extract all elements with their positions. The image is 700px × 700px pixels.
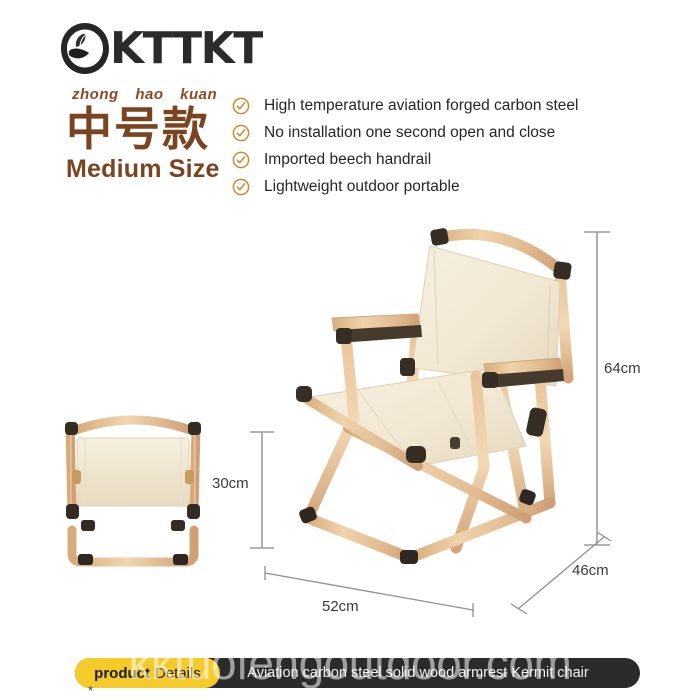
pinyin-3: kuan	[180, 86, 217, 103]
asterisk-mark: *	[88, 684, 93, 697]
feature-item: High temperature aviation forged carbon …	[232, 92, 682, 119]
dimension-label-folded-height: 30cm	[212, 475, 249, 492]
pinyin-2: hao	[135, 86, 163, 103]
feature-item: No installation one second open and clos…	[232, 119, 682, 146]
pinyin-1: zhong	[72, 86, 119, 103]
brand-name: KTTKT	[110, 27, 262, 71]
banner-caption: Aviation carbon steel solid wood armrest…	[220, 665, 640, 681]
feature-text: Imported beech handrail	[264, 151, 431, 169]
badge-label-details: Details	[155, 665, 201, 682]
dimension-label-width: 52cm	[322, 598, 359, 615]
feature-item: Imported beech handrail	[232, 146, 682, 173]
check-circle-icon	[232, 97, 250, 115]
feature-list: High temperature aviation forged carbon …	[232, 92, 682, 200]
kermit-chair-folded-image	[48, 408, 218, 573]
check-circle-icon	[232, 178, 250, 196]
feature-item: Lightweight outdoor portable	[232, 173, 682, 200]
feature-text: High temperature aviation forged carbon …	[264, 97, 579, 115]
badge-label-product: product	[94, 665, 150, 682]
check-circle-icon	[232, 124, 250, 142]
feature-text: Lightweight outdoor portable	[264, 178, 460, 196]
dimension-label-height: 64cm	[604, 360, 641, 377]
product-details-badge[interactable]: product Details	[75, 658, 220, 688]
bottom-banner: product Details Aviation carbon steel so…	[75, 658, 640, 688]
leaf-circle-logo-icon	[56, 20, 114, 78]
product-infographic-page: KTTKT zhong hao kuan 中号款 Medium Size Hig…	[0, 0, 700, 700]
feature-text: No installation one second open and clos…	[264, 124, 555, 142]
dimension-label-depth: 46cm	[572, 562, 609, 579]
check-circle-icon	[232, 151, 250, 169]
kermit-chair-open-image	[288, 218, 588, 588]
logo-row: KTTKT	[56, 18, 296, 80]
